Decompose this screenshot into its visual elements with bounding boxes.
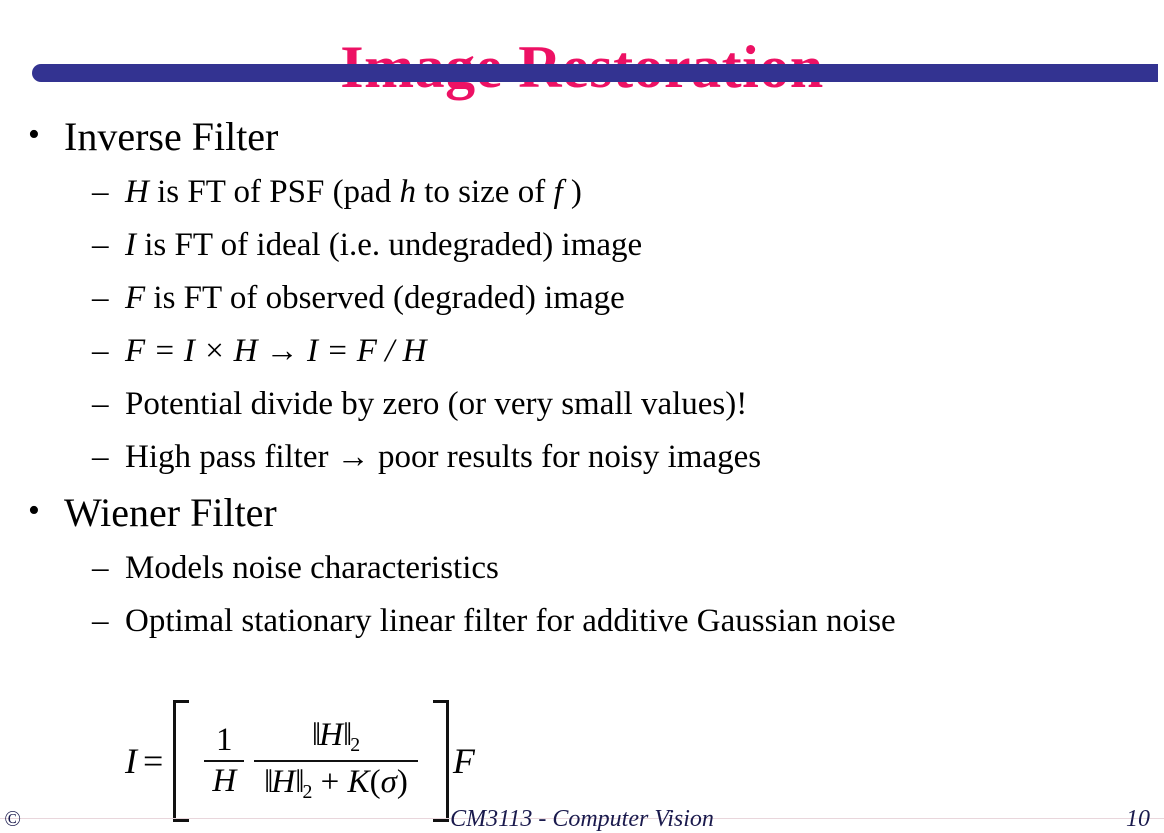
bullet-level2-equation-f-equals-i-times-h: – F = I × H → I = F / H [0, 325, 1164, 378]
dash-icon: – [92, 605, 109, 638]
fraction-one-over-h: 1 H [199, 721, 249, 801]
dash-icon: – [92, 441, 109, 474]
bracket-open-icon [173, 700, 189, 822]
bullet-dot-icon: • [28, 117, 40, 153]
dash-icon: – [92, 229, 109, 262]
bullet-level2-label: H is FT of PSF (pad h to size of f ) [125, 174, 582, 210]
bullet-level1-wiener-filter: • Wiener Filter [0, 484, 1164, 542]
fraction-numerator: 1 [208, 721, 241, 760]
fraction-denominator: ‖H‖2 + K(σ) [254, 762, 418, 807]
fraction-numerator: ‖H‖2 [302, 715, 370, 760]
bullet-level2-label: F is FT of observed (degraded) image [125, 280, 625, 316]
bullet-level2-label: Potential divide by zero (or very small … [125, 386, 747, 422]
slide-number: 10 [1126, 806, 1150, 833]
dash-icon: – [92, 388, 109, 421]
bullet-level2-optimal-stationary-linear-filter: – Optimal stationary linear filter for a… [0, 595, 1164, 648]
fraction-norm-over-norm-plus-k: ‖H‖2 ‖H‖2 + K(σ) [249, 715, 423, 806]
bullet-level2-potential-divide-by-zero: – Potential divide by zero (or very smal… [0, 378, 1164, 431]
bullet-level1-inverse-filter: • Inverse Filter [0, 108, 1164, 166]
equation-rhs: F [449, 740, 475, 782]
bullet-level2-label: I is FT of ideal (i.e. undegraded) image [125, 227, 642, 263]
bracket-close-icon [433, 700, 449, 822]
bullet-level2-label: Models noise characteristics [125, 550, 499, 586]
bullet-level2-models-noise-characteristics: – Models noise characteristics [0, 542, 1164, 595]
dash-icon: – [92, 552, 109, 585]
bullet-level2-h-is-ft-of-psf: – H is FT of PSF (pad h to size of f ) [0, 166, 1164, 219]
dash-icon: – [92, 335, 109, 368]
bullet-dot-icon: • [28, 493, 40, 529]
title-underline-bar [32, 64, 1158, 82]
bullet-level1-label: Wiener Filter [64, 490, 277, 535]
slide-body: • Inverse Filter – H is FT of PSF (pad h… [0, 108, 1164, 648]
equation-lhs: I [125, 740, 143, 782]
dash-icon: – [92, 282, 109, 315]
bullet-level2-i-is-ft-of-ideal: – I is FT of ideal (i.e. undegraded) ima… [0, 219, 1164, 272]
wiener-filter-equation: I = 1 H ‖H‖2 ‖H‖2 + K(σ) F [125, 700, 475, 822]
fraction-denominator: H [204, 762, 244, 801]
bullet-level1-label: Inverse Filter [64, 114, 278, 159]
bullet-level2-label: High pass filter → poor results for nois… [125, 439, 761, 475]
bullet-level2-label: Optimal stationary linear filter for add… [125, 603, 896, 639]
equation-equals-sign: = [143, 740, 173, 782]
dash-icon: – [92, 176, 109, 209]
footer-course-label: CM3113 - Computer Vision [0, 806, 1164, 833]
bullet-level2-high-pass-filter: – High pass filter → poor results for no… [0, 431, 1164, 484]
bullet-level2-f-is-ft-of-observed: – F is FT of observed (degraded) image [0, 272, 1164, 325]
inline-equation: F = I × H → I = F / H [125, 333, 426, 369]
